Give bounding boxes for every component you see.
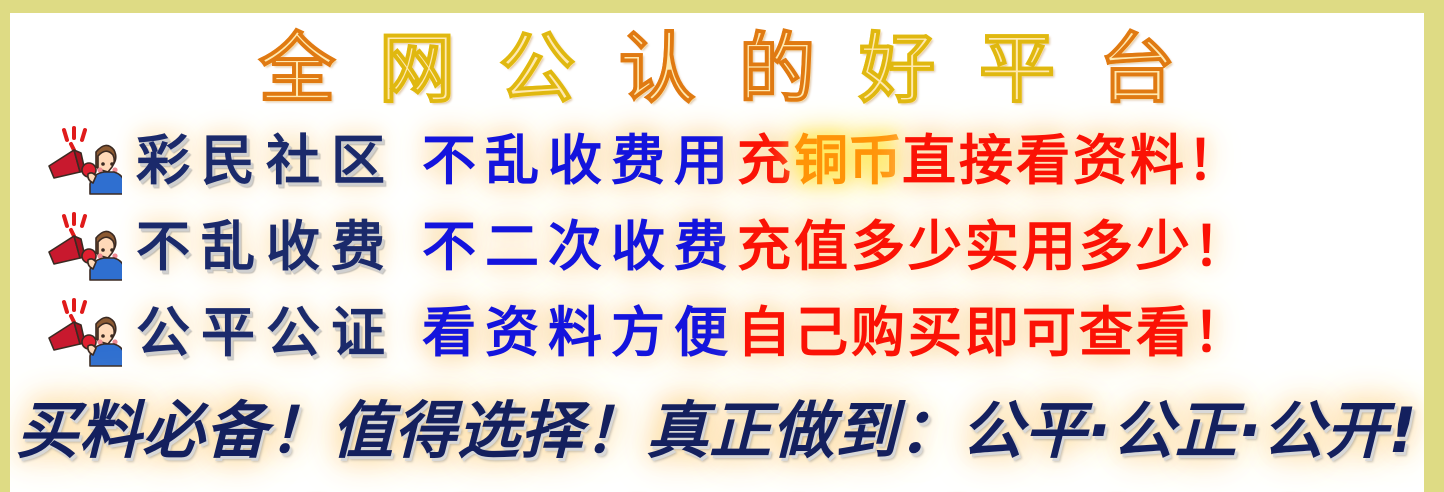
megaphone-icon (44, 298, 122, 368)
bullet-line-1: 彩民社区 不乱收费用 充 铜币 直接看资料！ (10, 119, 1424, 203)
line2-seg-red: 充值多少实用多少！ (737, 220, 1250, 274)
title-char-8: 台 (1099, 31, 1175, 107)
cut-off-glow (50, 485, 1384, 492)
banner-inner: 全 网 公 认 的 好 平 台 (10, 13, 1424, 492)
line1-seg-blue: 不乱收费用 (422, 134, 737, 188)
title-char-7: 平 (979, 31, 1055, 107)
title-char-4: 认 (619, 31, 695, 107)
line1-seg-gold: 铜币 (794, 134, 902, 188)
megaphone-icon (44, 212, 122, 282)
line1-seg-red-2: 直接看资料！ (902, 134, 1244, 188)
megaphone-icon (44, 126, 122, 196)
line3-seg-navy: 公平公证 (136, 306, 396, 360)
title-char-2: 网 (379, 31, 455, 107)
line2-seg-blue: 不二次收费 (422, 220, 737, 274)
bullet-line-3: 公平公证 看资料方便 自己购买即可查看！ (10, 291, 1424, 375)
bullet-line-2: 不乱收费 不二次收费 充值多少实用多少！ (10, 205, 1424, 289)
line3-seg-blue: 看资料方便 (422, 306, 737, 360)
slogan-text: 买料必备！值得选择！真正做到：公平·公正·公开! (16, 380, 1417, 470)
line1-seg-navy: 彩民社区 (136, 134, 396, 188)
promo-banner: 全 网 公 认 的 好 平 台 (0, 0, 1444, 492)
title-char-6: 好 (859, 31, 935, 107)
line1-seg-red-1: 充 (737, 134, 794, 188)
cut-off-line (10, 479, 1424, 492)
banner-slogan: 买料必备！值得选择！真正做到：公平·公正·公开! (10, 379, 1424, 471)
banner-title: 全 网 公 认 的 好 平 台 (10, 21, 1424, 117)
line3-seg-red: 自己购买即可查看！ (737, 306, 1250, 360)
line2-seg-navy: 不乱收费 (136, 220, 396, 274)
title-char-1: 全 (259, 31, 335, 107)
title-char-3: 公 (499, 31, 575, 107)
title-char-5: 的 (739, 31, 815, 107)
